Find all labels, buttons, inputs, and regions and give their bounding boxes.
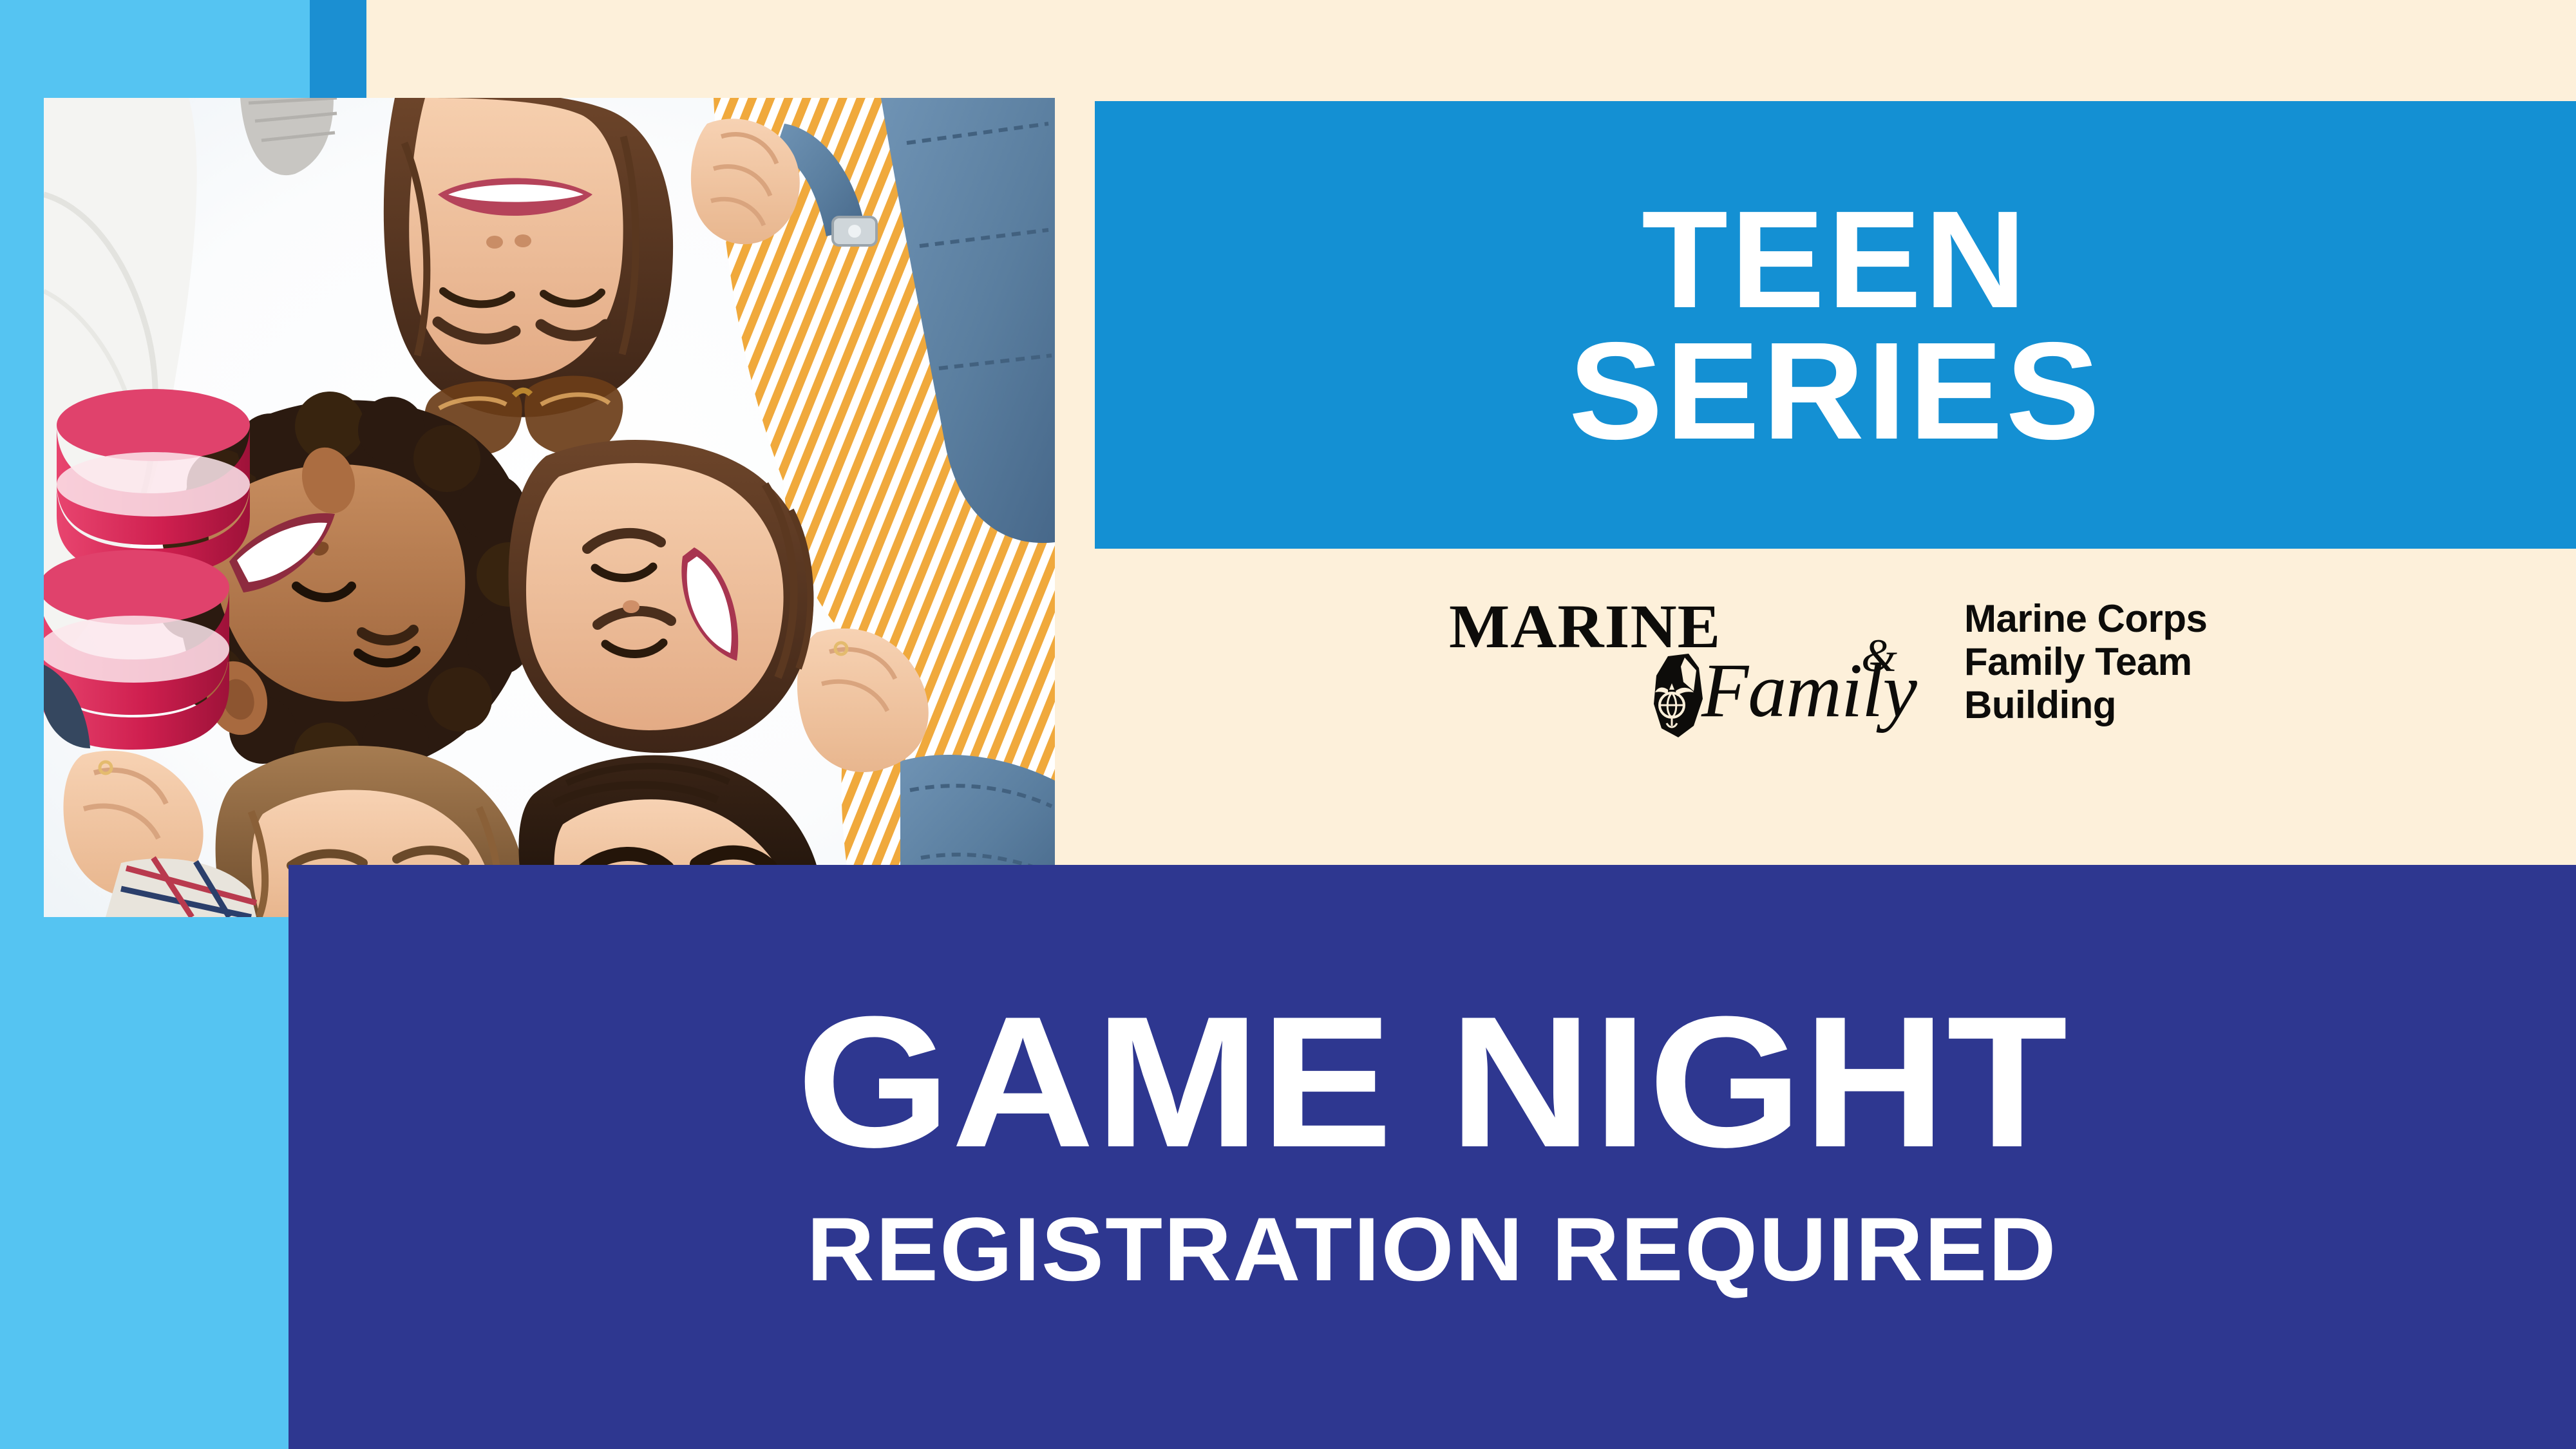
teen-series-banner: TEEN SERIES	[1095, 101, 2576, 549]
girl-right-middle	[509, 440, 814, 753]
tagline-line-3: Building	[1964, 683, 2207, 726]
teens-photo-illustration	[44, 98, 1055, 917]
registration-subhead: REGISTRATION REQUIRED	[807, 1204, 2058, 1294]
logo-family-text: Family	[1701, 646, 1917, 735]
poster-canvas: TEEN SERIES MARINE &	[0, 0, 2576, 1449]
logo-wordmark: MARINE & Family	[1449, 589, 1958, 750]
tagline-line-1: Marine Corps	[1964, 597, 2207, 640]
teen-series-line-1: TEEN	[1642, 196, 2029, 323]
teen-series-line-2: SERIES	[1569, 327, 2103, 455]
game-night-banner: GAME NIGHT REGISTRATION REQUIRED	[289, 865, 2576, 1449]
tagline-line-2: Family Team	[1964, 640, 2207, 683]
logo-tagline: Marine Corps Family Team Building	[1964, 597, 2207, 727]
logo-marine-text: MARINE	[1449, 591, 1721, 662]
event-headline: GAME NIGHT	[797, 994, 2068, 1171]
marine-family-logo: MARINE & Family	[1449, 589, 2299, 750]
teens-group-photo	[44, 98, 1055, 917]
